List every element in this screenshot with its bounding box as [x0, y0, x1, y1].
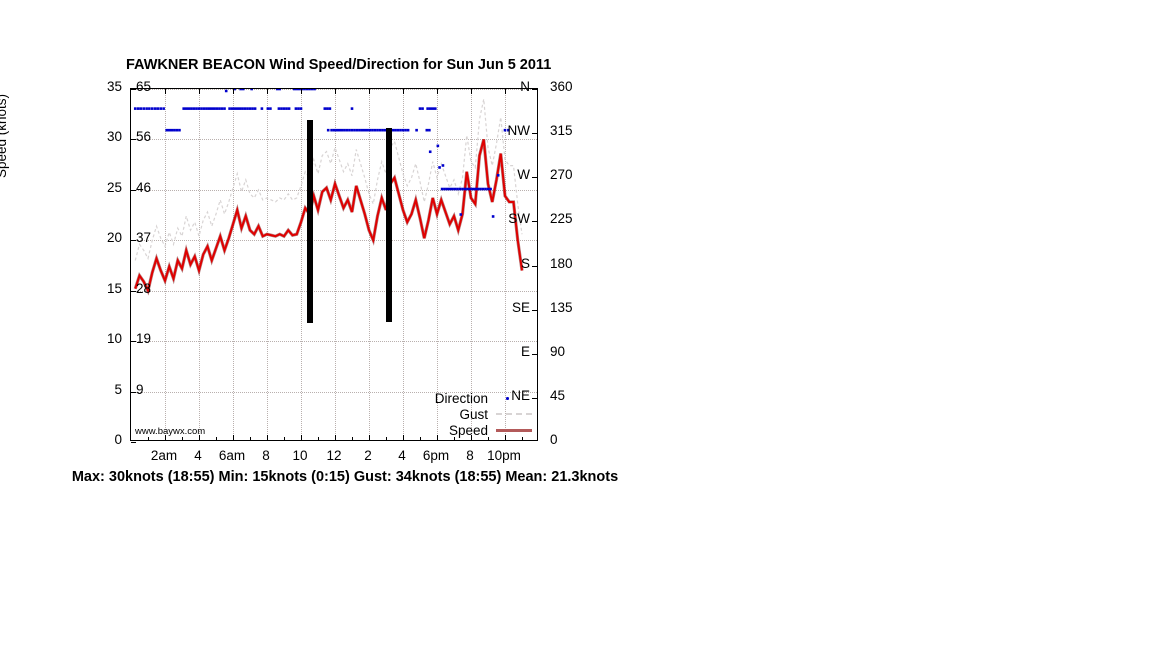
y-tick-label-knots: 30 — [84, 129, 122, 144]
tick-left-knots — [131, 442, 136, 443]
direction-dot — [225, 90, 228, 93]
y-tick-label-degrees: 270 — [550, 167, 590, 182]
tick-right-direction — [532, 354, 537, 355]
y-tick-label-compass: S — [494, 256, 530, 271]
tick-bottom-minor — [250, 437, 251, 440]
direction-dot — [173, 129, 176, 132]
y-tick-label-kmh: 46 — [136, 180, 166, 195]
direction-dot — [288, 107, 291, 110]
direction-dot — [228, 107, 231, 110]
legend-item-label: Direction — [435, 391, 488, 406]
direction-dot — [460, 213, 463, 216]
direction-dot — [404, 129, 407, 132]
direction-dot — [208, 107, 211, 110]
direction-dot — [278, 89, 281, 90]
direction-dot — [276, 89, 279, 90]
direction-dot — [394, 129, 397, 132]
chart-page: FAWKNER BEACON Wind Speed/Direction for … — [0, 0, 1152, 648]
y-tick-label-knots: 25 — [84, 180, 122, 195]
direction-dot — [246, 107, 249, 110]
direction-dot — [397, 129, 400, 132]
series-line-gust — [135, 99, 522, 260]
legend-swatch-line — [494, 424, 534, 436]
tick-right-direction — [532, 266, 537, 267]
direction-dot — [428, 129, 431, 132]
direction-dot — [341, 129, 344, 132]
direction-dot — [168, 129, 171, 132]
page-title: FAWKNER BEACON Wind Speed/Direction for … — [126, 57, 551, 73]
direction-dot — [278, 107, 281, 110]
direction-dot — [311, 89, 314, 90]
direction-dot — [366, 129, 369, 132]
tick-right-direction — [532, 177, 537, 178]
y-tick-label-knots: 5 — [84, 382, 122, 397]
direction-dot — [210, 107, 213, 110]
tick-bottom-minor — [182, 437, 183, 440]
y-tick-label-degrees: 135 — [550, 300, 590, 315]
footer-statistics: Max: 30knots (18:55) Min: 15knots (0:15)… — [0, 469, 690, 485]
tick-top-time — [267, 89, 268, 94]
vertical-marker-bar — [307, 120, 313, 323]
direction-dot — [176, 129, 179, 132]
direction-dot — [242, 89, 245, 90]
tick-top-time — [471, 89, 472, 94]
y-axis-title-left: Speed (knots) — [0, 94, 9, 178]
plot-inner — [131, 89, 537, 440]
y-tick-label-compass: E — [494, 344, 530, 359]
tick-right-direction — [532, 221, 537, 222]
direction-dot — [361, 129, 364, 132]
tick-bottom-time — [335, 435, 336, 440]
direction-dot — [216, 107, 219, 110]
series-line-speed-shadow — [135, 139, 522, 290]
direction-dot — [415, 129, 418, 132]
direction-dot — [171, 129, 174, 132]
tick-right-direction — [532, 89, 537, 90]
direction-dot — [140, 107, 143, 110]
vertical-marker-bar — [386, 128, 392, 322]
direction-dot — [351, 107, 354, 110]
tick-top-time — [233, 89, 234, 94]
tick-bottom-minor — [216, 437, 217, 440]
direction-dot — [434, 107, 437, 110]
direction-dot — [356, 129, 359, 132]
direction-dot — [269, 107, 272, 110]
direction-dot — [419, 107, 422, 110]
y-tick-label-compass: NW — [494, 123, 530, 138]
direction-dot — [137, 107, 140, 110]
direction-dot — [154, 107, 157, 110]
direction-dot — [327, 129, 330, 132]
direction-dot — [223, 107, 226, 110]
y-tick-label-knots: 0 — [84, 432, 122, 447]
y-tick-label-compass: N — [494, 79, 530, 94]
y-tick-label-kmh: 28 — [136, 281, 166, 296]
direction-dot — [461, 188, 464, 191]
direction-dot — [145, 107, 148, 110]
direction-dot — [464, 188, 467, 191]
direction-dot — [402, 129, 405, 132]
direction-dot — [442, 164, 445, 167]
direction-dot — [348, 129, 351, 132]
y-tick-label-knots: 20 — [84, 230, 122, 245]
y-tick-label-degrees: 45 — [550, 388, 590, 403]
tick-top-time — [369, 89, 370, 94]
direction-dot — [205, 107, 208, 110]
direction-dot — [182, 107, 185, 110]
direction-dot — [300, 107, 303, 110]
direction-dot — [363, 129, 366, 132]
tick-top-time — [301, 89, 302, 94]
direction-dot — [469, 188, 472, 191]
direction-dot — [329, 107, 332, 110]
direction-dot — [200, 107, 203, 110]
tick-top-time — [403, 89, 404, 94]
series-canvas — [131, 89, 537, 440]
tick-bottom-time — [267, 435, 268, 440]
direction-dot — [244, 107, 247, 110]
direction-dot — [448, 188, 451, 191]
direction-dot — [218, 107, 221, 110]
direction-dot — [358, 129, 361, 132]
direction-dot — [369, 129, 372, 132]
direction-dot — [249, 107, 252, 110]
direction-dot — [213, 107, 216, 110]
y-tick-label-degrees: 225 — [550, 211, 590, 226]
direction-dot — [162, 107, 165, 110]
direction-dot — [326, 107, 329, 110]
direction-dot — [477, 188, 480, 191]
direction-dot — [250, 89, 253, 90]
direction-dot — [371, 129, 374, 132]
direction-dot — [188, 107, 191, 110]
direction-dot — [446, 188, 449, 191]
direction-dot — [479, 188, 482, 191]
y-tick-label-kmh: 37 — [136, 230, 166, 245]
direction-dot — [351, 129, 354, 132]
tick-right-direction — [532, 310, 537, 311]
direction-dot — [151, 107, 154, 110]
direction-dot — [313, 89, 316, 90]
direction-dot — [157, 107, 160, 110]
direction-dot — [421, 107, 424, 110]
direction-dot — [190, 107, 193, 110]
tick-bottom-minor — [284, 437, 285, 440]
direction-dot — [297, 107, 300, 110]
direction-dot — [285, 107, 288, 110]
direction-dot — [379, 129, 382, 132]
direction-dot — [178, 129, 181, 132]
legend-item: Gust — [404, 406, 534, 422]
y-tick-label-compass: SW — [494, 211, 530, 226]
direction-dot — [236, 107, 239, 110]
y-tick-label-kmh: 19 — [136, 331, 166, 346]
direction-dot — [239, 107, 242, 110]
direction-dot — [487, 188, 490, 191]
direction-dot — [251, 107, 254, 110]
tick-bottom-minor — [318, 437, 319, 440]
direction-dot — [353, 129, 356, 132]
direction-dot — [241, 107, 244, 110]
direction-dot — [466, 188, 469, 191]
direction-dot — [308, 89, 311, 90]
direction-dot — [489, 188, 492, 191]
tick-bottom-minor — [148, 437, 149, 440]
direction-dot — [159, 107, 162, 110]
direction-dot — [381, 129, 384, 132]
direction-dot — [441, 188, 444, 191]
direction-dot — [474, 188, 477, 191]
direction-dot — [148, 107, 151, 110]
direction-dot — [261, 107, 264, 110]
legend-swatch-dash — [494, 408, 534, 420]
direction-dot — [426, 129, 429, 132]
direction-dot — [193, 107, 196, 110]
tick-top-time — [199, 89, 200, 94]
direction-dot — [346, 129, 349, 132]
y-tick-label-degrees: 0 — [550, 432, 590, 447]
y-tick-label-compass: NE — [494, 388, 530, 403]
direction-dot — [195, 107, 198, 110]
direction-dot — [482, 188, 485, 191]
direction-dot — [431, 107, 434, 110]
direction-dot — [203, 107, 206, 110]
direction-dot — [429, 107, 432, 110]
direction-dot — [407, 129, 410, 132]
y-tick-label-degrees: 90 — [550, 344, 590, 359]
plot-area: www.baywx.com DirectionGustSpeed — [130, 88, 538, 441]
tick-top-time — [437, 89, 438, 94]
direction-dot — [306, 89, 309, 90]
direction-dot — [303, 89, 306, 90]
direction-dot — [343, 129, 346, 132]
direction-dot — [426, 107, 429, 110]
direction-dot — [221, 107, 224, 110]
tick-bottom-minor — [352, 437, 353, 440]
direction-dot — [471, 188, 474, 191]
tick-top-time — [335, 89, 336, 94]
direction-dot — [293, 89, 296, 90]
direction-dot — [484, 188, 487, 191]
y-tick-label-degrees: 315 — [550, 123, 590, 138]
tick-bottom-time — [369, 435, 370, 440]
series-line-speed — [135, 139, 522, 290]
direction-dot — [330, 129, 333, 132]
direction-dot — [280, 107, 283, 110]
y-tick-label-degrees: 180 — [550, 256, 590, 271]
tick-bottom-time — [301, 435, 302, 440]
legend-item: Speed — [404, 422, 534, 438]
direction-dot — [295, 89, 298, 90]
legend-item-label: Gust — [459, 407, 488, 422]
direction-dot — [239, 89, 242, 90]
direction-dot — [231, 107, 234, 110]
y-tick-label-degrees: 360 — [550, 79, 590, 94]
y-tick-label-compass: W — [494, 167, 530, 182]
direction-dot — [324, 107, 327, 110]
direction-dot — [438, 166, 441, 169]
direction-dot — [333, 129, 336, 132]
x-tick-label-time: 10pm — [480, 448, 528, 463]
tick-bottom-minor — [386, 437, 387, 440]
y-tick-label-compass: SE — [494, 300, 530, 315]
direction-dot — [437, 145, 440, 148]
legend-item-label: Speed — [449, 423, 488, 438]
direction-dot — [338, 129, 341, 132]
y-tick-label-kmh: 65 — [136, 79, 166, 94]
direction-dot — [429, 150, 432, 153]
direction-dot — [134, 107, 137, 110]
direction-dot — [459, 188, 462, 191]
direction-dot — [376, 129, 379, 132]
y-tick-label-kmh: 56 — [136, 129, 166, 144]
direction-dot — [399, 129, 402, 132]
tick-right-direction — [532, 133, 537, 134]
direction-dot — [233, 107, 236, 110]
direction-dot — [142, 107, 145, 110]
y-tick-label-knots: 15 — [84, 281, 122, 296]
direction-dot — [198, 107, 201, 110]
direction-dot — [454, 188, 457, 191]
direction-dot — [456, 188, 459, 191]
y-tick-label-knots: 10 — [84, 331, 122, 346]
direction-dot — [254, 107, 257, 110]
direction-dot — [283, 107, 286, 110]
y-tick-label-kmh: 9 — [136, 382, 166, 397]
direction-dot — [335, 129, 338, 132]
direction-dot — [443, 188, 446, 191]
direction-dot — [451, 188, 454, 191]
direction-dot — [374, 129, 377, 132]
direction-dot — [267, 107, 270, 110]
y-tick-label-knots: 35 — [84, 79, 122, 94]
direction-dot — [295, 107, 298, 110]
direction-dot — [185, 107, 188, 110]
watermark: www.baywx.com — [135, 426, 205, 437]
tick-bottom-time — [233, 435, 234, 440]
